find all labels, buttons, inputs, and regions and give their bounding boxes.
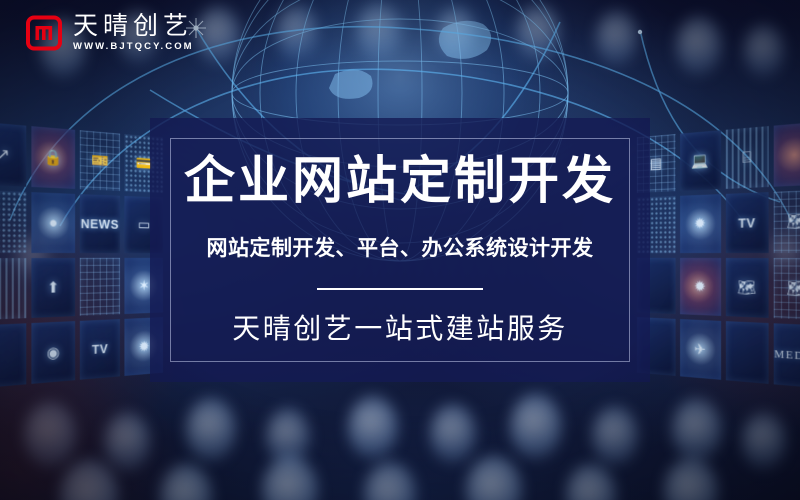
media-tile bbox=[0, 190, 26, 253]
keyboard-icon: ⌸ bbox=[742, 149, 751, 167]
media-tile: 🗺 bbox=[725, 258, 768, 319]
media-tile: ● bbox=[31, 192, 74, 253]
media-tile-wall-right: ▤💻⌸✹TV🗺✹🗺🗺✈MEDIA bbox=[637, 122, 800, 389]
light-burst-icon: ✹ bbox=[139, 337, 150, 355]
nebula-icon: ✹ bbox=[694, 215, 706, 233]
logo-website-url: WWW.BJTQCY.COM bbox=[73, 42, 194, 52]
monitor-icon: ▭ bbox=[138, 216, 150, 233]
media-tile: ⬆ bbox=[31, 258, 74, 319]
promo-panel: 企业网站定制开发 网站定制开发、平台、办公系统设计开发 天晴创艺一站式建站服务 bbox=[150, 118, 650, 382]
media-tile: TV bbox=[725, 192, 768, 253]
media-tile bbox=[725, 321, 768, 384]
media-tile: ✹ bbox=[680, 257, 721, 316]
media-tile bbox=[79, 257, 120, 316]
media-tile: 🎫 bbox=[79, 130, 120, 190]
laptop-icon: 💻 bbox=[691, 151, 708, 170]
nebula-icon: ✹ bbox=[694, 277, 706, 295]
panel-tagline: 天晴创艺一站式建站服务 bbox=[232, 312, 568, 346]
lock-icon: 🔒 bbox=[44, 148, 63, 168]
media-tile-label: TV bbox=[92, 341, 108, 357]
media-tile: ⌸ bbox=[725, 126, 768, 189]
city-skyline-icon: ▤ bbox=[650, 155, 662, 173]
brand-logo[interactable]: 天晴创艺 WWW.BJTQCY.COM bbox=[26, 14, 194, 52]
media-tile-label: TV bbox=[738, 215, 755, 231]
media-tile bbox=[774, 122, 800, 187]
media-tile: MEDIA bbox=[774, 324, 800, 389]
media-tile bbox=[0, 324, 26, 389]
panel-subheadline: 网站定制开发、平台、办公系统设计开发 bbox=[207, 236, 594, 261]
jet-icon: ✈ bbox=[694, 340, 706, 358]
media-tile: ✈ bbox=[680, 319, 721, 379]
logo-square-mark-icon bbox=[26, 14, 62, 52]
globe-dots-icon: ● bbox=[49, 214, 58, 231]
world-map-icon: 🗺 bbox=[787, 212, 800, 231]
world-map-icon: 🗺 bbox=[737, 278, 756, 297]
media-tile: ↗ bbox=[0, 122, 26, 187]
media-tile-wall-left: ↗🔒🎫💳●NEWS▭⬆✶◉TV✹ bbox=[0, 122, 163, 389]
panel-divider bbox=[317, 288, 483, 290]
up-arrow-icon: ⬆ bbox=[47, 278, 59, 297]
star-burst-icon: ✶ bbox=[139, 277, 150, 294]
media-tile bbox=[0, 258, 26, 321]
media-tile: 🔒 bbox=[31, 126, 74, 189]
film-reel-icon: ◉ bbox=[47, 343, 60, 362]
media-tile: NEWS bbox=[79, 194, 120, 253]
media-tile-label: MEDIA bbox=[774, 348, 800, 364]
media-tile: ◉ bbox=[31, 321, 74, 384]
media-tile: ✹ bbox=[680, 194, 721, 253]
media-tile: 💻 bbox=[680, 130, 721, 190]
media-tile-label: NEWS bbox=[81, 216, 119, 232]
logo-company-name: 天晴创艺 bbox=[73, 14, 194, 39]
world-map-icon: 🗺 bbox=[787, 279, 800, 298]
ticket-icon: 🎫 bbox=[91, 151, 108, 170]
chart-arrow-icon: ↗ bbox=[0, 145, 10, 165]
media-tile: TV bbox=[79, 319, 120, 379]
media-tile: 🗺 bbox=[774, 190, 800, 253]
panel-headline: 企业网站定制开发 bbox=[184, 156, 616, 210]
media-tile: 🗺 bbox=[774, 258, 800, 321]
promo-banner: ↗🔒🎫💳●NEWS▭⬆✶◉TV✹ ▤💻⌸✹TV🗺✹🗺🗺✈MEDIA 天晴创艺 W… bbox=[0, 0, 800, 500]
